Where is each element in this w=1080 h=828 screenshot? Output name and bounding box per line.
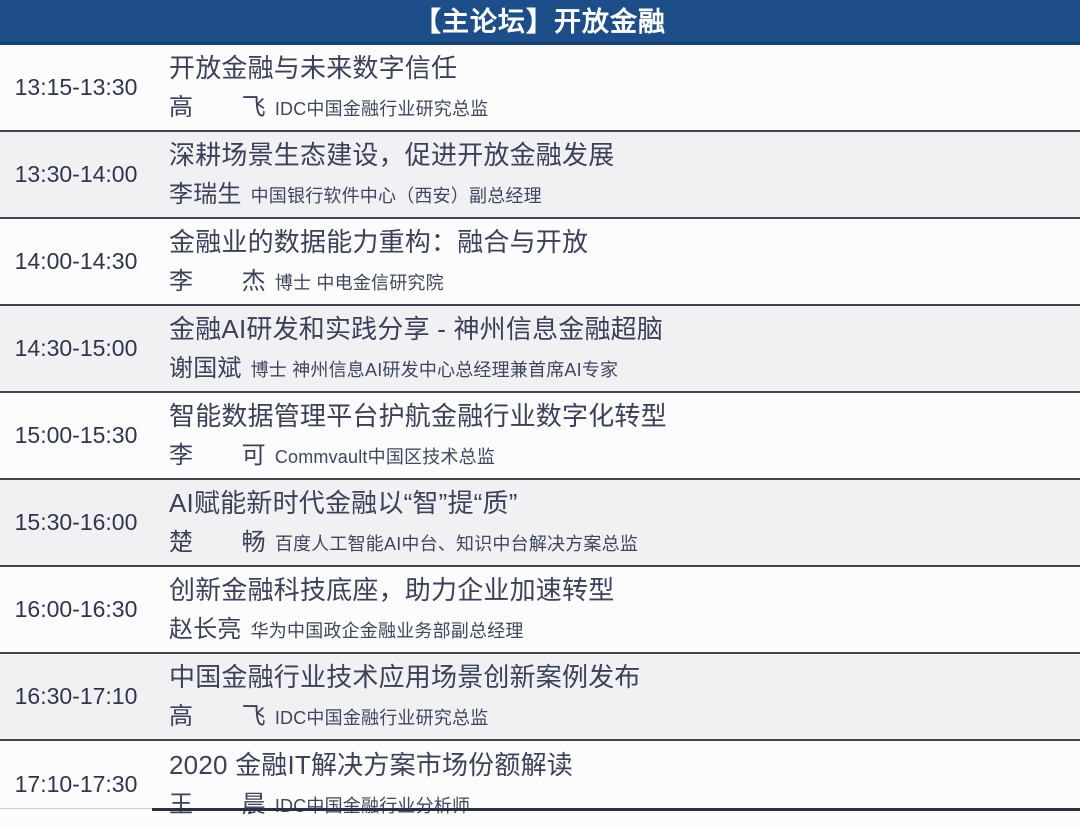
session-content-cell: 金融业的数据能力重构：融合与开放李 杰博士 中电金信研究院 bbox=[152, 219, 1080, 304]
speaker-role: IDC中国金融行业研究总监 bbox=[275, 95, 489, 121]
speaker-line: 高 飞IDC中国金融行业研究总监 bbox=[169, 87, 1066, 122]
agenda-row[interactable]: 14:30-15:00金融AI研发和实践分享 - 神州信息金融超脑谢国斌博士 神… bbox=[0, 306, 1080, 393]
speaker-name: 王 晨 bbox=[169, 784, 266, 819]
agenda-row[interactable]: 17:10-17:302020 金融IT解决方案市场份额解读王 晨IDC中国金融… bbox=[0, 741, 1080, 828]
session-title: 智能数据管理平台护航金融行业数字化转型 bbox=[169, 401, 1066, 432]
session-time-cell: 16:00-16:30 bbox=[0, 567, 152, 652]
speaker-line: 王 晨IDC中国金融行业分析师 bbox=[169, 784, 1066, 819]
session-time: 17:10-17:30 bbox=[15, 771, 138, 798]
session-time: 15:30-16:00 bbox=[15, 509, 138, 536]
speaker-role: 博士 神州信息AI研发中心总经理兼首席AI专家 bbox=[251, 356, 619, 382]
session-content-cell: 中国金融行业技术应用场景创新案例发布高 飞IDC中国金融行业研究总监 bbox=[152, 654, 1080, 739]
agenda-row-list: 13:15-13:30开放金融与未来数字信任高 飞IDC中国金融行业研究总监13… bbox=[0, 45, 1080, 828]
speaker-line: 李 杰博士 中电金信研究院 bbox=[169, 261, 1066, 296]
session-title: 深耕场景生态建设，促进开放金融发展 bbox=[169, 140, 1066, 171]
speaker-line: 高 飞IDC中国金融行业研究总监 bbox=[169, 696, 1066, 731]
speaker-role: Commvault中国区技术总监 bbox=[275, 443, 495, 469]
session-title: 金融业的数据能力重构：融合与开放 bbox=[169, 227, 1066, 258]
speaker-name: 楚 畅 bbox=[169, 522, 266, 557]
session-time-cell: 15:00-15:30 bbox=[0, 393, 152, 478]
forum-title: 【主论坛】开放金融 bbox=[414, 9, 666, 36]
session-time: 13:15-13:30 bbox=[15, 74, 138, 101]
agenda-row[interactable]: 14:00-14:30金融业的数据能力重构：融合与开放李 杰博士 中电金信研究院 bbox=[0, 219, 1080, 306]
speaker-role: 华为中国政企金融业务部副总经理 bbox=[251, 617, 524, 643]
speaker-role: IDC中国金融行业分析师 bbox=[275, 792, 470, 818]
speaker-line: 李 可Commvault中国区技术总监 bbox=[169, 435, 1066, 470]
agenda-row[interactable]: 16:00-16:30创新金融科技底座，助力企业加速转型赵长亮华为中国政企金融业… bbox=[0, 567, 1080, 654]
session-time: 16:00-16:30 bbox=[15, 596, 138, 623]
session-title: 中国金融行业技术应用场景创新案例发布 bbox=[169, 662, 1066, 693]
speaker-line: 李瑞生中国银行软件中心（西安）副总经理 bbox=[169, 174, 1066, 209]
session-content-cell: 金融AI研发和实践分享 - 神州信息金融超脑谢国斌博士 神州信息AI研发中心总经… bbox=[152, 306, 1080, 391]
session-title: 金融AI研发和实践分享 - 神州信息金融超脑 bbox=[169, 314, 1066, 345]
session-time-cell: 17:10-17:30 bbox=[0, 741, 152, 828]
speaker-line: 赵长亮华为中国政企金融业务部副总经理 bbox=[169, 609, 1066, 644]
agenda-row[interactable]: 15:00-15:30智能数据管理平台护航金融行业数字化转型李 可Commvau… bbox=[0, 393, 1080, 480]
session-content-cell: 智能数据管理平台护航金融行业数字化转型李 可Commvault中国区技术总监 bbox=[152, 393, 1080, 478]
agenda-row[interactable]: 13:15-13:30开放金融与未来数字信任高 飞IDC中国金融行业研究总监 bbox=[0, 45, 1080, 132]
session-content-cell: 2020 金融IT解决方案市场份额解读王 晨IDC中国金融行业分析师 bbox=[152, 741, 1080, 828]
speaker-name: 高 飞 bbox=[169, 87, 266, 122]
agenda-row[interactable]: 15:30-16:00AI赋能新时代金融以“智”提“质”楚 畅百度人工智能AI中… bbox=[0, 480, 1080, 567]
speaker-name: 李 杰 bbox=[169, 261, 266, 296]
session-time-cell: 14:30-15:00 bbox=[0, 306, 152, 391]
speaker-name: 赵长亮 bbox=[169, 609, 242, 644]
session-time-cell: 15:30-16:00 bbox=[0, 480, 152, 565]
session-time: 16:30-17:10 bbox=[15, 683, 138, 710]
session-time: 13:30-14:00 bbox=[15, 161, 138, 188]
speaker-role: 百度人工智能AI中台、知识中台解决方案总监 bbox=[275, 530, 638, 556]
bottom-rule-group bbox=[0, 807, 1080, 811]
speaker-role: 博士 中电金信研究院 bbox=[275, 269, 444, 295]
speaker-name: 李 可 bbox=[169, 435, 266, 470]
session-time-cell: 13:30-14:00 bbox=[0, 132, 152, 217]
session-title: 2020 金融IT解决方案市场份额解读 bbox=[169, 750, 1066, 781]
speaker-name: 李瑞生 bbox=[169, 174, 242, 209]
session-time: 14:30-15:00 bbox=[15, 335, 138, 362]
session-time: 15:00-15:30 bbox=[15, 422, 138, 449]
agenda-row[interactable]: 13:30-14:00深耕场景生态建设，促进开放金融发展李瑞生中国银行软件中心（… bbox=[0, 132, 1080, 219]
speaker-role: IDC中国金融行业研究总监 bbox=[275, 704, 489, 730]
session-title: 开放金融与未来数字信任 bbox=[169, 53, 1066, 84]
session-time-cell: 13:15-13:30 bbox=[0, 45, 152, 130]
session-title: AI赋能新时代金融以“智”提“质” bbox=[169, 488, 1066, 519]
speaker-name: 高 飞 bbox=[169, 696, 266, 731]
speaker-role: 中国银行软件中心（西安）副总经理 bbox=[251, 182, 542, 208]
session-content-cell: AI赋能新时代金融以“智”提“质”楚 畅百度人工智能AI中台、知识中台解决方案总… bbox=[152, 480, 1080, 565]
session-content-cell: 深耕场景生态建设，促进开放金融发展李瑞生中国银行软件中心（西安）副总经理 bbox=[152, 132, 1080, 217]
session-time-cell: 14:00-14:30 bbox=[0, 219, 152, 304]
forum-header-banner: 【主论坛】开放金融 bbox=[0, 0, 1080, 45]
session-time: 14:00-14:30 bbox=[15, 248, 138, 275]
session-content-cell: 创新金融科技底座，助力企业加速转型赵长亮华为中国政企金融业务部副总经理 bbox=[152, 567, 1080, 652]
session-time-cell: 16:30-17:10 bbox=[0, 654, 152, 739]
session-title: 创新金融科技底座，助力企业加速转型 bbox=[169, 575, 1066, 606]
speaker-name: 谢国斌 bbox=[169, 348, 242, 383]
agenda-row[interactable]: 16:30-17:10中国金融行业技术应用场景创新案例发布高 飞IDC中国金融行… bbox=[0, 654, 1080, 741]
agenda-panel: 【主论坛】开放金融 13:15-13:30开放金融与未来数字信任高 飞IDC中国… bbox=[0, 0, 1080, 811]
speaker-line: 谢国斌博士 神州信息AI研发中心总经理兼首席AI专家 bbox=[169, 348, 1066, 383]
speaker-line: 楚 畅百度人工智能AI中台、知识中台解决方案总监 bbox=[169, 522, 1066, 557]
session-content-cell: 开放金融与未来数字信任高 飞IDC中国金融行业研究总监 bbox=[152, 45, 1080, 130]
